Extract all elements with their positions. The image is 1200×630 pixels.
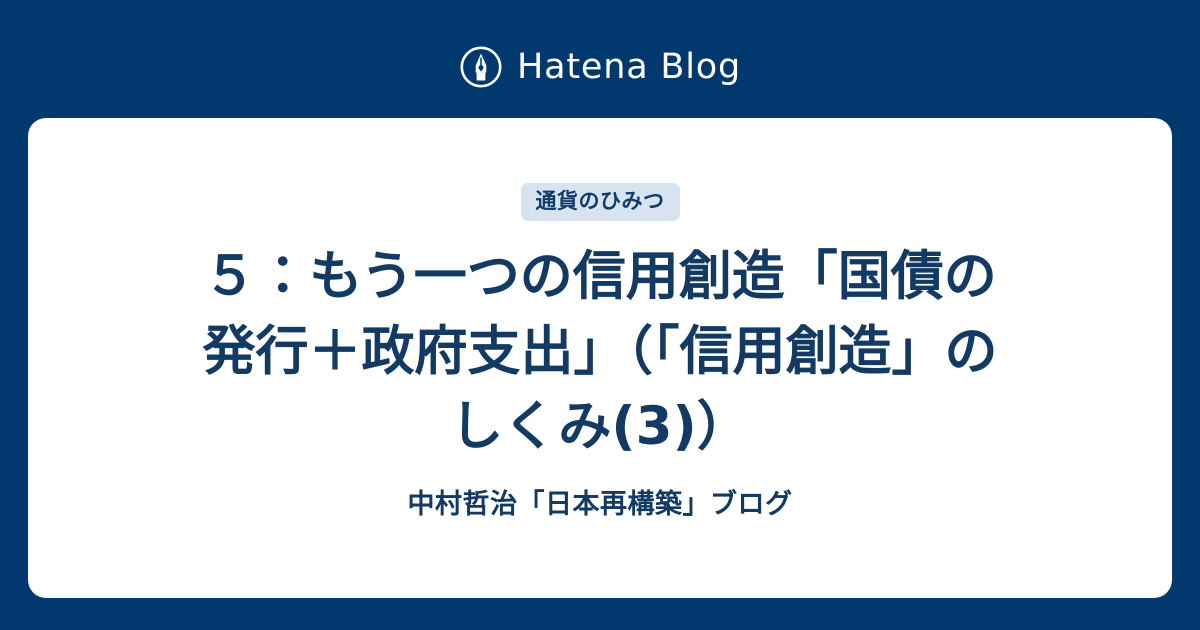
- entry-title: ５：もう一つの信用創造「国債の 発行＋政府支出」（「信用創造」 のしくみ(3)）: [185, 239, 1015, 464]
- fountain-pen-nib-in-circle-icon: [459, 45, 503, 89]
- hatena-blog-brand: Hatena Blog: [0, 38, 1200, 96]
- entry-title-line-1: ５：もう一つの信用創造「国債の: [203, 246, 996, 307]
- category-badge[interactable]: 通貨のひみつ: [521, 183, 680, 221]
- blog-title: 中村哲治「日本再構築」ブログ: [100, 486, 1100, 524]
- entry-title-line-2: 発行＋政府支出」（「信用創造」: [203, 321, 945, 382]
- entry-card-inner: 通貨のひみつ ５：もう一つの信用創造「国債の 発行＋政府支出」（「信用創造」 の…: [100, 118, 1100, 524]
- ogp-card-canvas: Hatena Blog 通貨のひみつ ５：もう一つの信用創造「国債の 発行＋政府…: [0, 0, 1200, 630]
- brand-name-label: Hatena Blog: [517, 45, 741, 89]
- entry-card: 通貨のひみつ ５：もう一つの信用創造「国債の 発行＋政府支出」（「信用創造」 の…: [28, 118, 1172, 598]
- category-badge-row: 通貨のひみつ: [100, 183, 1100, 221]
